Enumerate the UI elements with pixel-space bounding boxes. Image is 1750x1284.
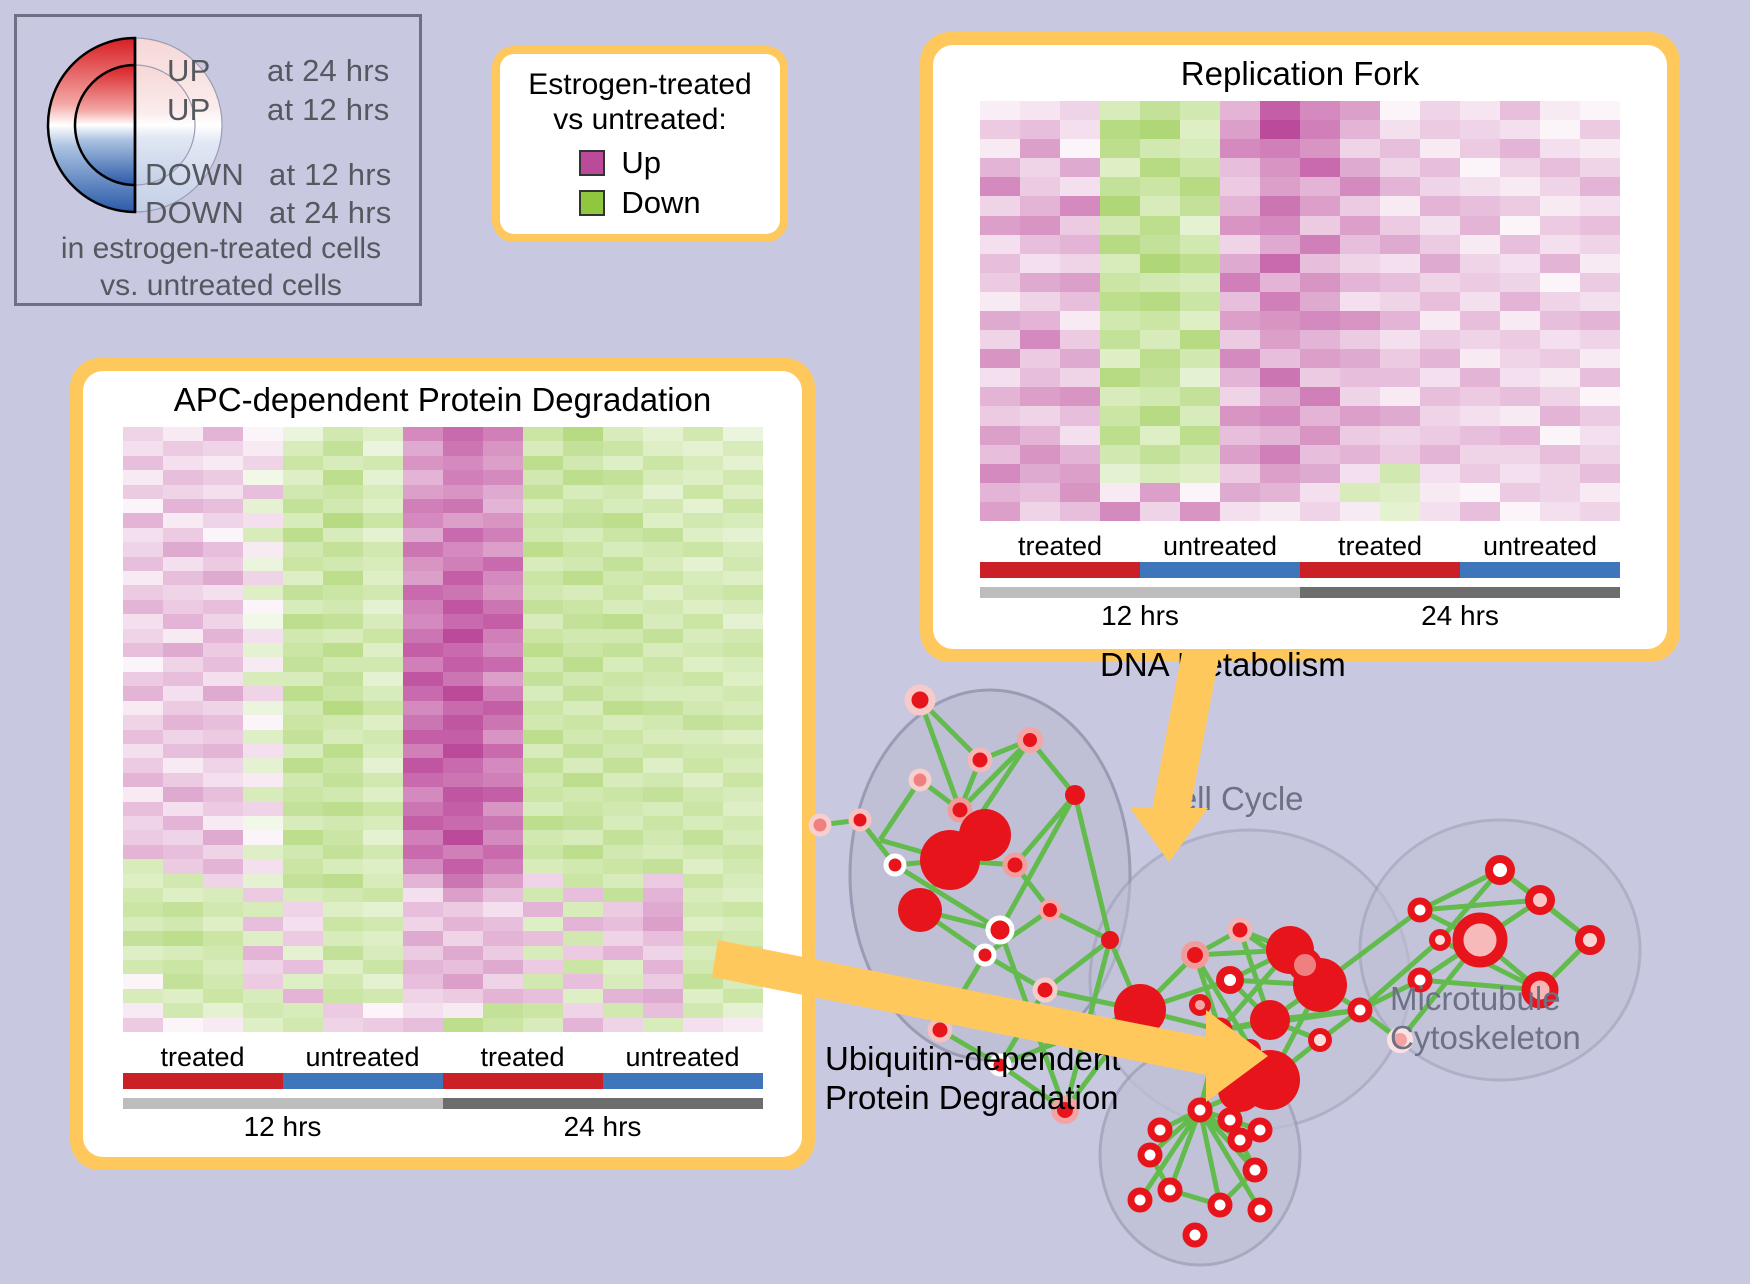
- heatmap-cell: [403, 974, 443, 988]
- heatmap-cell: [1100, 177, 1140, 196]
- axis-group-bar: [603, 1073, 763, 1089]
- heatmap-cell: [523, 989, 563, 1003]
- heatmap-cell: [1020, 139, 1060, 158]
- heatmap-cell: [323, 427, 363, 441]
- cluster-label-ubiquitin-line1: Ubiquitin-dependent: [825, 1040, 1120, 1079]
- heatmap-cell: [1020, 120, 1060, 139]
- axis-group-bar: [980, 562, 1140, 578]
- heatmap-cell: [243, 787, 283, 801]
- heatmap-cell: [723, 830, 763, 844]
- heatmap-cell: [1420, 292, 1460, 311]
- heatmap-cell: [1060, 254, 1100, 273]
- heatmap-cell: [643, 600, 683, 614]
- heatmap-cell: [283, 614, 323, 628]
- heatmap-cell: [683, 513, 723, 527]
- heatmap-cell: [1380, 483, 1420, 502]
- heatmap-cell: [563, 874, 603, 888]
- heatmap-cell: [483, 830, 523, 844]
- heatmap-cell: [603, 485, 643, 499]
- heatmap-cell: [203, 600, 243, 614]
- heatmap-cell: [1580, 216, 1620, 235]
- heatmap-cell: [443, 802, 483, 816]
- heatmap-cell: [123, 614, 163, 628]
- heatmap-cell: [163, 917, 203, 931]
- heatmap-cell: [483, 787, 523, 801]
- heatmap-cell: [483, 643, 523, 657]
- heatmap-cell: [123, 513, 163, 527]
- heatmap-cell: [483, 513, 523, 527]
- heatmap-cell: [723, 485, 763, 499]
- heatmap-cell: [980, 445, 1020, 464]
- heatmap-cell: [1380, 273, 1420, 292]
- heatmap-cell: [163, 859, 203, 873]
- heatmap-cell: [363, 730, 403, 744]
- heatmap-cell: [643, 571, 683, 585]
- heatmap-cell: [483, 859, 523, 873]
- heatmap-cell: [1220, 330, 1260, 349]
- heatmap-cell: [483, 499, 523, 513]
- heatmap-cell: [1140, 177, 1180, 196]
- heatmap-cell: [483, 773, 523, 787]
- heatmap-cell: [603, 629, 643, 643]
- heatmap-cell: [643, 585, 683, 599]
- heatmap-cell: [323, 816, 363, 830]
- heatmap-cell: [1500, 502, 1540, 521]
- heatmap-cell: [243, 585, 283, 599]
- legend-time-down-24: at 24 hrs: [269, 195, 391, 231]
- heatmap-cell: [643, 456, 683, 470]
- heatmap-cell: [323, 513, 363, 527]
- heatmap-cell: [1220, 235, 1260, 254]
- heatmap-cell: [1420, 235, 1460, 254]
- heatmap-cell: [1260, 139, 1300, 158]
- heatmap-cell: [643, 787, 683, 801]
- heatmap-cell: [523, 470, 563, 484]
- heatmap-cell: [163, 542, 203, 556]
- heatmap-cell: [363, 585, 403, 599]
- heatmap-cell: [483, 571, 523, 585]
- node: [911, 771, 929, 789]
- heatmap-cell: [203, 744, 243, 758]
- heatmap-cell: [523, 528, 563, 542]
- heatmap-cell: [723, 513, 763, 527]
- heatmap-cell: [1020, 330, 1060, 349]
- node: [1192, 997, 1208, 1013]
- key-title: Estrogen-treated vs untreated:: [528, 67, 751, 138]
- heatmap-cell: [683, 686, 723, 700]
- heatmap-cell: [363, 499, 403, 513]
- heatmap-cell: [1380, 445, 1420, 464]
- heatmap-cell: [123, 773, 163, 787]
- heatmap-cell: [483, 528, 523, 542]
- heatmap-cell: [723, 686, 763, 700]
- heatmap-cell: [243, 672, 283, 686]
- heatmap-cell: [203, 701, 243, 715]
- heatmap-cell: [1380, 292, 1420, 311]
- heatmap-cell: [483, 1003, 523, 1017]
- key-title-line2: vs untreated:: [528, 102, 751, 137]
- heatmap-cell: [980, 464, 1020, 483]
- heatmap-cell: [1300, 406, 1340, 425]
- heatmap-cell: [243, 730, 283, 744]
- heatmap-cell: [203, 758, 243, 772]
- heatmap-cell: [603, 902, 643, 916]
- heatmap-cell: [523, 917, 563, 931]
- axis-group-label: treated: [443, 1042, 603, 1073]
- heatmap-cell: [1380, 101, 1420, 120]
- heatmap-cell: [683, 845, 723, 859]
- node: [1220, 970, 1240, 990]
- key-label-down: Down: [621, 185, 700, 221]
- heatmap-cell: [163, 730, 203, 744]
- heatmap-cell: [563, 715, 603, 729]
- heatmap-cell: [443, 974, 483, 988]
- heatmap-cell: [1100, 330, 1140, 349]
- heatmap-cell: [403, 643, 443, 657]
- node: [1131, 1191, 1149, 1209]
- heatmap-cell: [1140, 445, 1180, 464]
- heatmap-cell: [243, 513, 283, 527]
- heatmap-cell: [723, 1003, 763, 1017]
- heatmap-cell: [1380, 368, 1420, 387]
- heatmap-cell: [563, 787, 603, 801]
- heatmap-cell: [243, 499, 283, 513]
- heatmap-cell: [683, 730, 723, 744]
- heatmap-cell: [980, 368, 1020, 387]
- heatmap-cell: [723, 701, 763, 715]
- heatmap-cell: [563, 600, 603, 614]
- heatmap-cell: [1340, 464, 1380, 483]
- heatmap-cell: [123, 629, 163, 643]
- heatmap-cell: [243, 859, 283, 873]
- node: [959, 809, 1011, 861]
- heatmap-cell: [603, 528, 643, 542]
- heatmap-cell: [1140, 406, 1180, 425]
- heatmap-cell: [1460, 101, 1500, 120]
- heatmap-cell: [1060, 139, 1100, 158]
- heatmap-cell: [1580, 177, 1620, 196]
- heatmap-cell: [483, 470, 523, 484]
- heatmap-cell: [723, 730, 763, 744]
- heatmap-cell: [243, 600, 283, 614]
- heatmap-cell: [123, 917, 163, 931]
- heatmap-cell: [323, 758, 363, 772]
- heatmap-cell: [363, 773, 403, 787]
- heatmap-cell: [523, 499, 563, 513]
- heatmap-cell: [243, 528, 283, 542]
- heatmap-cell: [1340, 139, 1380, 158]
- heatmap-cell: [203, 1003, 243, 1017]
- heatmap-cell: [1300, 254, 1340, 273]
- heatmap-cell: [323, 1018, 363, 1032]
- heatmap-cell: [643, 946, 683, 960]
- heatmap-cell: [363, 946, 403, 960]
- heatmap-cell: [283, 643, 323, 657]
- heatmap-cell: [723, 931, 763, 945]
- heatmap-cell: [1580, 158, 1620, 177]
- heatmap-cell: [723, 600, 763, 614]
- heatmap-cell: [603, 888, 643, 902]
- heatmap-cell: [1340, 311, 1380, 330]
- heatmap-cell: [643, 427, 683, 441]
- heatmap-cell: [643, 859, 683, 873]
- heatmap-cell: [1460, 483, 1500, 502]
- heatmap-cell: [523, 787, 563, 801]
- heatmap-cell: [1180, 502, 1220, 521]
- heatmap-cell: [483, 758, 523, 772]
- heatmap-cell: [1060, 235, 1100, 254]
- heatmap-cell: [1020, 464, 1060, 483]
- heatmap-cell: [523, 974, 563, 988]
- heatmap-cell: [163, 528, 203, 542]
- heatmap-cell: [1260, 311, 1300, 330]
- heatmap-cell: [643, 542, 683, 556]
- updown-key-box: Estrogen-treated vs untreated: Up Down: [492, 46, 788, 242]
- heatmap-cell: [1100, 254, 1140, 273]
- heatmap-cell: [603, 643, 643, 657]
- heatmap-cell: [1580, 368, 1620, 387]
- heatmap-cell: [323, 499, 363, 513]
- heatmap-cell: [1340, 216, 1380, 235]
- heatmap-cell: [1380, 216, 1420, 235]
- heatmap-cell: [1460, 235, 1500, 254]
- heatmap-cell: [363, 960, 403, 974]
- heatmap-cell: [523, 1003, 563, 1017]
- heatmap-cell: [323, 542, 363, 556]
- heatmap-cell: [1580, 235, 1620, 254]
- heatmap-cell: [723, 902, 763, 916]
- heatmap-cell: [1580, 311, 1620, 330]
- heatmap-cell: [163, 960, 203, 974]
- heatmap-cell: [1140, 464, 1180, 483]
- heatmap-cell: [1220, 387, 1260, 406]
- heatmap-cell: [283, 686, 323, 700]
- heatmap-cell: [523, 816, 563, 830]
- heatmap-cell: [403, 859, 443, 873]
- heatmap-cell: [563, 585, 603, 599]
- heatmap-cell: [203, 931, 243, 945]
- heatmap-cell: [243, 686, 283, 700]
- heatmap-cell: [523, 960, 563, 974]
- heatmap-cell: [363, 917, 403, 931]
- heatmap-cell: [403, 629, 443, 643]
- heatmap-cell: [1420, 177, 1460, 196]
- axis-time-label: 12 hrs: [123, 1109, 443, 1143]
- heatmap-cell: [683, 600, 723, 614]
- heatmap-cell: [563, 528, 603, 542]
- heatmap-cell: [483, 441, 523, 455]
- heatmap-cell: [163, 427, 203, 441]
- heatmap-cell: [643, 672, 683, 686]
- cluster-label-microtubule-line1: Microtubule: [1390, 980, 1581, 1019]
- heatmap-cell: [523, 859, 563, 873]
- heatmap-cell: [1540, 158, 1580, 177]
- heatmap-cell: [323, 730, 363, 744]
- heatmap-cell: [363, 427, 403, 441]
- node: [1291, 951, 1319, 979]
- heatmap-cell: [443, 672, 483, 686]
- heatmap-cell: [1140, 139, 1180, 158]
- heatmap-cell: [163, 571, 203, 585]
- heatmap-cell: [243, 874, 283, 888]
- heatmap-cell: [723, 758, 763, 772]
- heatmap-cell: [1340, 349, 1380, 368]
- heatmap-cell: [1100, 101, 1140, 120]
- heatmap-cell: [1020, 426, 1060, 445]
- heatmap-cell: [1220, 464, 1260, 483]
- heatmap-cell: [1380, 158, 1420, 177]
- heatmap-cell: [980, 330, 1020, 349]
- heatmap-cell: [523, 542, 563, 556]
- heatmap-cell: [1500, 292, 1540, 311]
- heatmap-cell: [1420, 368, 1460, 387]
- heatmap-cell: [363, 542, 403, 556]
- heatmap-cell: [283, 960, 323, 974]
- heatmap-cell: [980, 235, 1020, 254]
- heatmap-cell: [523, 643, 563, 657]
- heatmap-cell: [683, 715, 723, 729]
- heatmap-cell: [403, 614, 443, 628]
- heatmap-cell: [1220, 177, 1260, 196]
- heatmap-cell: [363, 672, 403, 686]
- heatmap-cell: [1300, 349, 1340, 368]
- heatmap-cell: [643, 931, 683, 945]
- heatmap-cell: [363, 816, 403, 830]
- heatmap-cell: [1220, 158, 1260, 177]
- heatmap-cell: [563, 571, 603, 585]
- heatmap-cell: [683, 787, 723, 801]
- heatmap-cell: [283, 730, 323, 744]
- heatmap-cell: [723, 946, 763, 960]
- heatmap-cell: [403, 441, 443, 455]
- heatmap-cell: [643, 744, 683, 758]
- heatmap-cell: [1300, 216, 1340, 235]
- heatmap-cell: [1500, 349, 1540, 368]
- heatmap-cell: [243, 989, 283, 1003]
- heatmap-cell: [203, 715, 243, 729]
- node: [1141, 1146, 1159, 1164]
- heatmap-cell: [203, 845, 243, 859]
- heatmap-cell: [123, 441, 163, 455]
- heatmap-cell: [1060, 120, 1100, 139]
- heatmap-cell: [683, 657, 723, 671]
- heatmap-cell: [1540, 177, 1580, 196]
- heatmap-cell: [1180, 158, 1220, 177]
- heatmap-cell: [203, 513, 243, 527]
- heatmap-cell: [1260, 502, 1300, 521]
- heatmap-cell: [1540, 254, 1580, 273]
- heatmap-cell: [243, 657, 283, 671]
- heatmap-cell: [1020, 254, 1060, 273]
- heatmap-cell: [1300, 426, 1340, 445]
- heatmap-cell: [563, 960, 603, 974]
- heatmap-cell: [1580, 330, 1620, 349]
- heatmap-cell: [1580, 196, 1620, 215]
- heatmap-cell: [403, 456, 443, 470]
- heatmap-cell: [1060, 387, 1100, 406]
- heatmap-cell: [980, 426, 1020, 445]
- heatmap-cell: [1460, 120, 1500, 139]
- heatmap-cell: [1100, 216, 1140, 235]
- heatmap-cell: [1060, 196, 1100, 215]
- heatmap-cell: [1420, 349, 1460, 368]
- heatmap-cell: [203, 542, 243, 556]
- heatmap-cell: [1420, 216, 1460, 235]
- heatmap-cell: [363, 989, 403, 1003]
- legend-footer-line2: vs. untreated cells: [17, 268, 425, 305]
- heatmap-cell: [1060, 330, 1100, 349]
- axis-time-bar: [980, 587, 1300, 598]
- heatmap-cell: [443, 1018, 483, 1032]
- heatmap-cell: [403, 470, 443, 484]
- heatmap-cell: [1140, 349, 1180, 368]
- heatmap-cell: [643, 470, 683, 484]
- heatmap-cell: [283, 946, 323, 960]
- heatmap-cell: [363, 1003, 403, 1017]
- heatmap-cell: [1460, 368, 1500, 387]
- heatmap-cell: [1300, 139, 1340, 158]
- heatmap-cell: [1460, 216, 1500, 235]
- heatmap-cell: [443, 816, 483, 830]
- heatmap-cell: [603, 427, 643, 441]
- heatmap-cell: [363, 657, 403, 671]
- heatmap-cell: [403, 557, 443, 571]
- heatmap-cell: [483, 1018, 523, 1032]
- heatmap-cell: [1540, 292, 1580, 311]
- heatmap-cell: [1020, 483, 1060, 502]
- heatmap-cell: [1260, 101, 1300, 120]
- heatmap-cell: [243, 441, 283, 455]
- heatmap-cell: [683, 470, 723, 484]
- heatmap-cell: [163, 787, 203, 801]
- heatmap-cell: [1020, 158, 1060, 177]
- heatmap-cell: [723, 585, 763, 599]
- heatmap-cell: [1540, 445, 1580, 464]
- heatmap-cell: [243, 456, 283, 470]
- node: [1432, 932, 1448, 948]
- heatmap-cell: [1420, 483, 1460, 502]
- heatmap-cell: [1260, 216, 1300, 235]
- heatmap-cell: [443, 528, 483, 542]
- heatmap-cell: [483, 542, 523, 556]
- heatmap-cell: [123, 989, 163, 1003]
- heatmap-cell: [1140, 273, 1180, 292]
- heatmap-cell: [523, 758, 563, 772]
- heatmap-cell: [563, 859, 603, 873]
- heatmap-cell: [203, 830, 243, 844]
- heatmap-cell: [603, 960, 643, 974]
- heatmap-cell: [163, 657, 203, 671]
- heatmap-cell: [1140, 235, 1180, 254]
- heatmap-cell: [1460, 349, 1500, 368]
- heatmap-cell: [980, 292, 1020, 311]
- heatmap-cell: [203, 614, 243, 628]
- heatmap-cell: [1260, 464, 1300, 483]
- node: [908, 688, 932, 712]
- heatmap-cell: [443, 499, 483, 513]
- heatmap-cell: [603, 816, 643, 830]
- heatmap-cell: [603, 931, 643, 945]
- heatmap-cell: [283, 874, 323, 888]
- heatmap-cell: [363, 787, 403, 801]
- heatmap-cell: [203, 946, 243, 960]
- heatmap-cell: [563, 614, 603, 628]
- heatmap-cell: [443, 874, 483, 888]
- heatmap-cell: [643, 499, 683, 513]
- axis-group-bar: [123, 1073, 283, 1089]
- heatmap-cell: [283, 629, 323, 643]
- heatmap-cell: [363, 931, 403, 945]
